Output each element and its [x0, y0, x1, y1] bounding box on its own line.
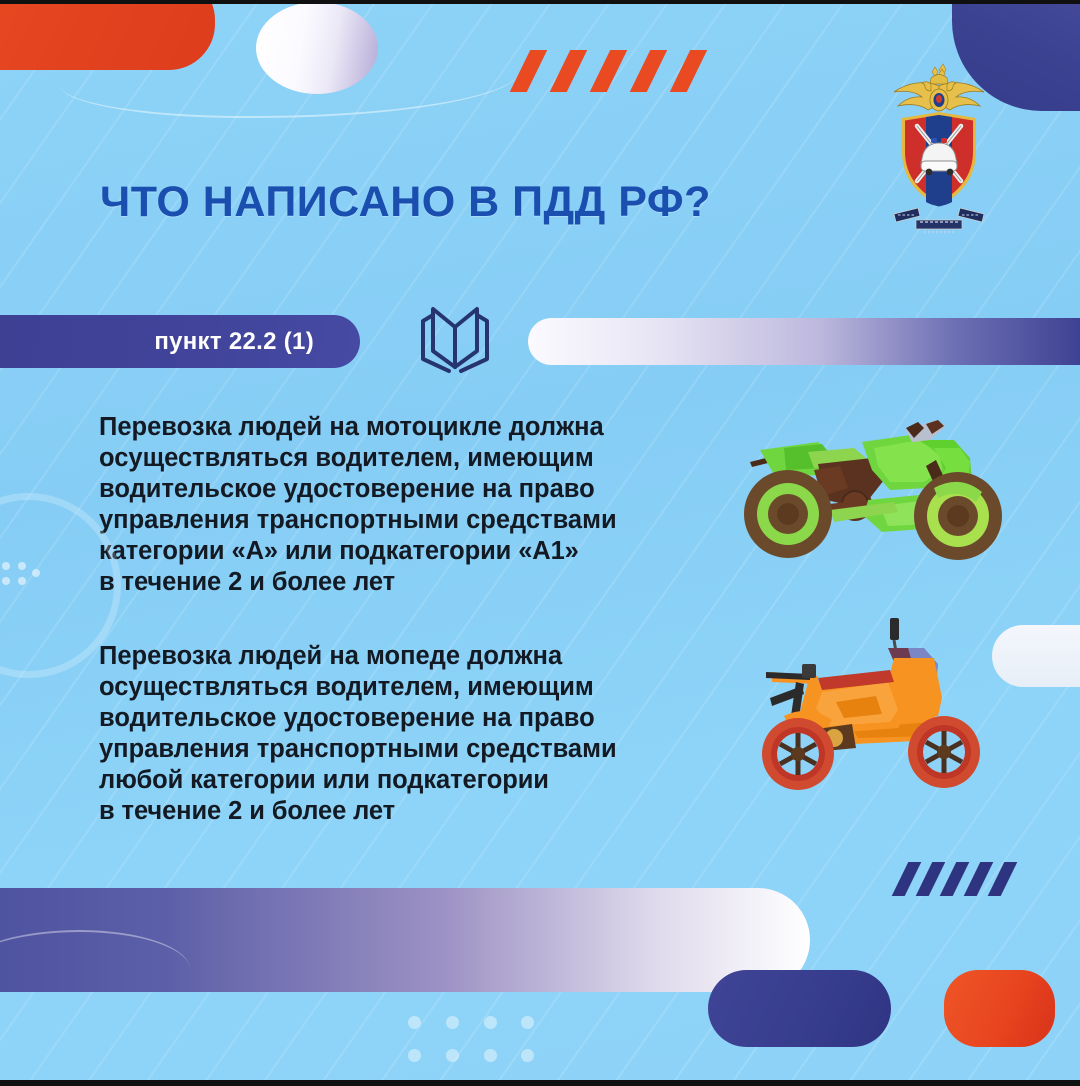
frame-edge-top: [0, 0, 1080, 4]
infographic-poster: ЧТО НАПИСАНО В ПДД РФ? пункт 22.2 (1) Пе…: [0, 0, 1080, 1086]
clause-badge: пункт 22.2 (1): [0, 315, 360, 368]
paragraph-line: водительское удостоверение на право: [99, 703, 699, 734]
paragraph-line-emphasis: в течение 2 и более лет: [99, 796, 699, 827]
decor-dot-grid-bottom: [408, 1016, 534, 1062]
paragraph-motorcycle-rule: Перевозка людей на мотоцикле должна осущ…: [99, 412, 699, 598]
paragraph-line-emphasis: любой категории или подкатегории: [99, 765, 699, 796]
paragraph-line: управления транспортными средствами: [99, 734, 699, 765]
mvd-gibdd-emblem: [876, 56, 1002, 242]
decor-gradient-pill-header: [528, 318, 1080, 365]
orange-scooter-illustration: [748, 612, 1048, 817]
clause-badge-label: пункт 22.2 (1): [154, 328, 314, 356]
paragraph-line: водительское удостоверение на право: [99, 474, 699, 505]
green-motorcycle-illustration: [722, 404, 1052, 579]
decor-pill-bottom-blue: [708, 970, 891, 1047]
paragraph-line-emphasis: категории «А» или подкатегории «А1»: [99, 536, 699, 567]
paragraph-line: осуществляться водителем, имеющим: [99, 672, 699, 703]
page-title: ЧТО НАПИСАНО В ПДД РФ?: [100, 178, 711, 227]
decor-swoosh-bottom: [0, 930, 190, 1012]
paragraph-line: осуществляться водителем, имеющим: [99, 443, 699, 474]
paragraph-line-emphasis: в течение 2 и более лет: [99, 567, 699, 598]
decor-pill-bottom-red: [944, 970, 1055, 1047]
paragraph-line: Перевозка людей на мопеде должна: [99, 641, 699, 672]
paragraph-line: Перевозка людей на мотоцикле должна: [99, 412, 699, 443]
decor-shape-top-left-oval: [256, 2, 378, 94]
decor-orange-diagonal-stripes: [520, 50, 725, 92]
paragraph-line: управления транспортными средствами: [99, 505, 699, 536]
decor-blue-diagonal-stripes: [900, 862, 1015, 896]
paragraph-moped-rule: Перевозка людей на мопеде должна осущест…: [99, 641, 699, 827]
frame-edge-bottom: [0, 1080, 1080, 1086]
decor-shape-top-left-red: [0, 0, 215, 70]
open-book-icon: [409, 301, 501, 375]
decor-dot-cluster-left: [2, 562, 42, 588]
